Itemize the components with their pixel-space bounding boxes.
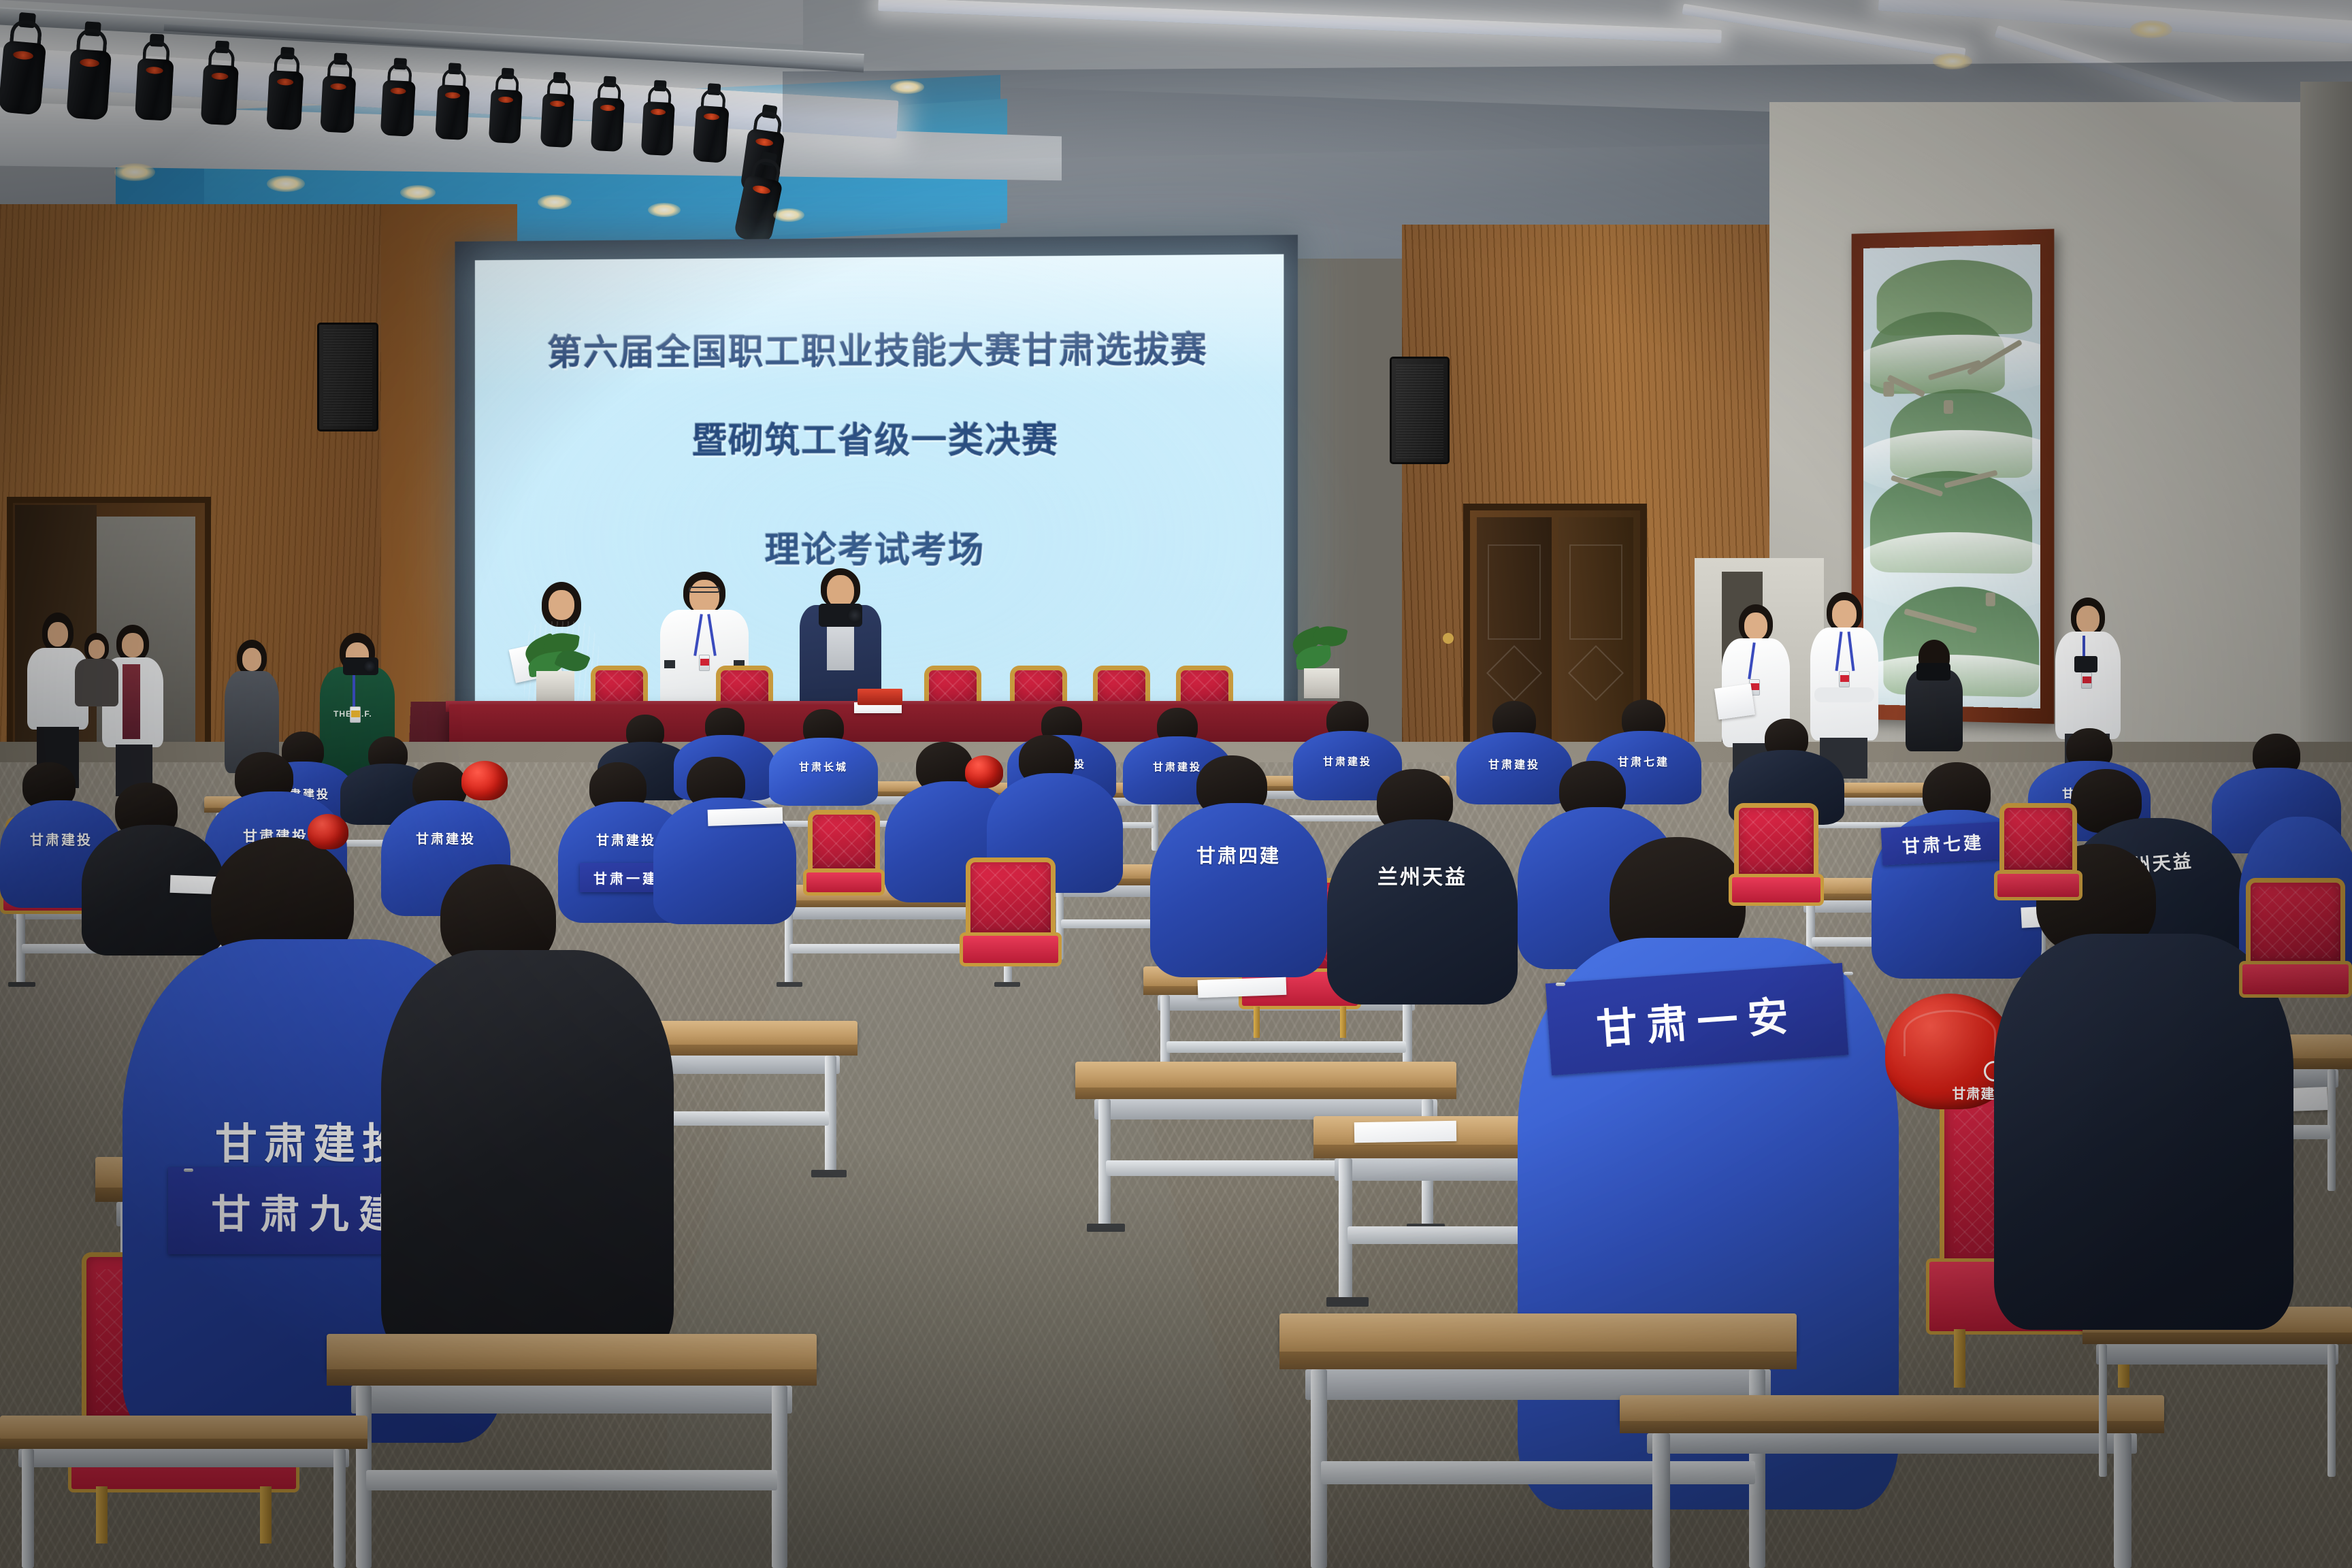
door-panel-detail bbox=[1569, 544, 1622, 640]
slide-title-line-2: 暨砌筑工省级一类决赛 bbox=[692, 411, 1059, 463]
ceiling-downlight-icon bbox=[267, 176, 305, 192]
glasses-icon bbox=[689, 587, 720, 593]
uniform-label: 甘肃四建 bbox=[1150, 841, 1327, 868]
stage-light-icon bbox=[489, 84, 523, 144]
helmet-ridge bbox=[1904, 1010, 1997, 1056]
examinee-mid-center-2 bbox=[653, 757, 796, 920]
door-handle-icon[interactable] bbox=[1443, 633, 1454, 644]
ceiling-downlight-icon bbox=[538, 195, 572, 210]
stage-light-icon bbox=[66, 42, 112, 120]
camera-icon bbox=[343, 657, 378, 675]
stage-light-icon bbox=[591, 92, 625, 152]
seat-sign: 甘肃七建 bbox=[1881, 821, 2006, 865]
chair[interactable] bbox=[1729, 803, 1824, 926]
stage-light-icon bbox=[641, 96, 675, 156]
stage-light-icon bbox=[320, 69, 356, 133]
door-diamond-detail bbox=[1486, 645, 1542, 701]
chair[interactable] bbox=[2239, 878, 2352, 1021]
answer-sheet bbox=[1354, 1121, 1457, 1143]
stage-light-icon bbox=[435, 79, 470, 140]
answer-sheet bbox=[1198, 977, 1287, 998]
examinee-lanzhou-tianyi-1: 兰州天益 bbox=[1327, 769, 1518, 1000]
stage-light-icon bbox=[135, 52, 174, 121]
ceiling-downlight-icon bbox=[400, 185, 436, 200]
observer-background-person bbox=[75, 633, 118, 715]
ceiling-downlight-icon bbox=[773, 208, 804, 222]
stage-light-icon bbox=[693, 99, 730, 163]
wall-corner-right bbox=[2300, 82, 2352, 830]
id-badge bbox=[699, 655, 710, 671]
stage-light-icon bbox=[201, 59, 239, 126]
chair[interactable] bbox=[1994, 803, 2082, 919]
red-safety-helmet-small[interactable] bbox=[965, 755, 1003, 788]
speaker-left bbox=[317, 323, 378, 431]
camera-icon bbox=[1916, 663, 1950, 681]
documents bbox=[1714, 683, 1755, 719]
id-badge bbox=[350, 706, 361, 723]
desk[interactable] bbox=[0, 1416, 367, 1568]
ceiling-downlight-icon bbox=[890, 80, 924, 94]
ceiling-downlight-icon bbox=[2130, 20, 2172, 38]
phone-icon bbox=[2074, 656, 2097, 672]
chair[interactable] bbox=[803, 810, 885, 912]
speaker-right bbox=[1390, 357, 1450, 464]
answer-sheet bbox=[708, 807, 783, 826]
slide-title-line-3: 理论考试考场 bbox=[765, 521, 985, 572]
potted-plant-right bbox=[1286, 626, 1361, 701]
stage-light-icon bbox=[540, 88, 574, 148]
red-safety-helmet-small[interactable] bbox=[461, 761, 508, 800]
painting-great-wall bbox=[1863, 244, 2040, 708]
uniform-label: 兰州天益 bbox=[1327, 860, 1518, 890]
stage-light-icon bbox=[380, 74, 416, 137]
red-safety-helmet-small[interactable] bbox=[308, 814, 348, 849]
screen-glare bbox=[475, 254, 1284, 391]
ceiling-downlight-icon bbox=[648, 203, 681, 217]
exam-hall-photo: 第六届全国职工职业技能大赛甘肃选拔赛 暨砌筑工省级一类决赛 理论考试考场 bbox=[0, 0, 2352, 1568]
examinee-gansu-sijian: 甘肃四建 bbox=[1150, 755, 1327, 973]
ceiling-downlight-icon bbox=[114, 163, 155, 181]
chair[interactable] bbox=[960, 857, 1062, 987]
crossed-arms bbox=[1814, 687, 1874, 702]
stage-light-icon bbox=[0, 33, 47, 115]
desk[interactable] bbox=[2082, 1307, 2352, 1477]
camera-icon bbox=[819, 604, 862, 627]
patterned-top bbox=[122, 664, 140, 739]
ceiling-downlight-icon bbox=[1933, 53, 1972, 69]
table-name-plate bbox=[857, 689, 902, 705]
examinee-foreground-left-dark bbox=[381, 864, 674, 1354]
desk[interactable] bbox=[327, 1334, 817, 1568]
door-diamond-detail bbox=[1568, 645, 1624, 701]
door-panel-detail bbox=[1488, 544, 1541, 640]
stage-light-icon bbox=[266, 64, 304, 130]
